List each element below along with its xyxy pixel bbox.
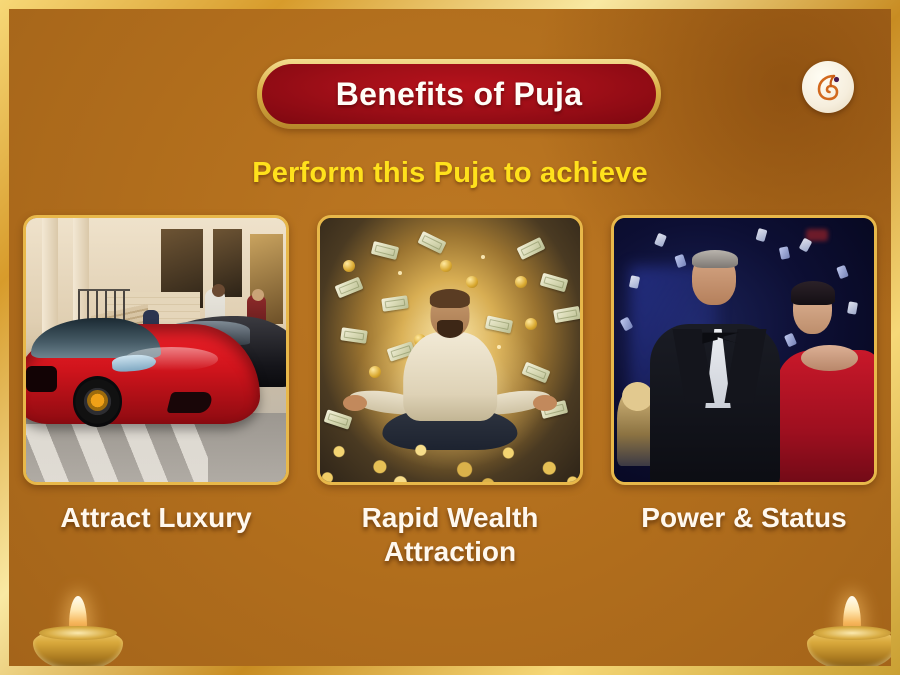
benefit-card-1[interactable] [23, 215, 289, 485]
page-title: Benefits of Puja [336, 76, 583, 113]
diya-lamp-right-icon [807, 604, 891, 666]
diya-lamp-left-icon [33, 604, 123, 666]
benefit-card-2[interactable] [317, 215, 583, 485]
title-banner: Benefits of Puja [257, 59, 661, 129]
subtitle: Perform this Puja to achieve [9, 157, 891, 190]
ganesha-om-icon [808, 67, 848, 107]
benefit-captions-row: Attract Luxury Rapid Wealth Attraction P… [9, 501, 891, 569]
title-banner-inner: Benefits of Puja [262, 64, 656, 124]
benefit-caption-2: Rapid Wealth Attraction [317, 501, 583, 569]
poster-inner-panel: Benefits of Puja Perform this Puja to ac… [9, 9, 891, 666]
power-status-photo [614, 218, 874, 482]
benefit-caption-1: Attract Luxury [23, 501, 289, 569]
puja-benefits-poster: Benefits of Puja Perform this Puja to ac… [0, 0, 900, 675]
brand-logo-badge[interactable] [802, 61, 854, 113]
benefit-cards-row [9, 215, 891, 485]
benefit-card-3[interactable] [611, 215, 877, 485]
luxury-car-photo [26, 218, 286, 482]
benefit-caption-3: Power & Status [611, 501, 877, 569]
wealth-meditation-photo [320, 218, 580, 482]
